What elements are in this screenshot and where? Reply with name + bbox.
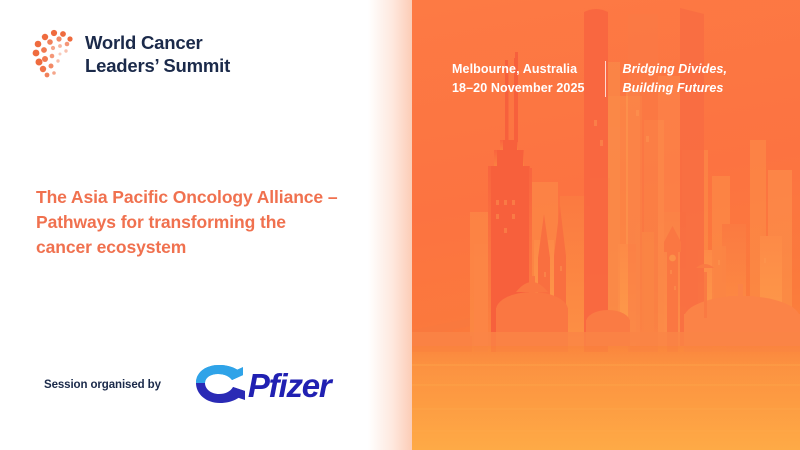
presentation-slide: Melbourne, Australia 18–20 November 2025… — [0, 0, 800, 450]
wcls-dot-spiral-icon — [30, 28, 76, 80]
wcls-logo: World Cancer Leaders’ Summit — [30, 28, 230, 80]
pfizer-logo: Pfizer — [188, 362, 331, 408]
session-title: The Asia Pacific Oncology Alliance – Pat… — [36, 185, 396, 260]
event-place-and-date: Melbourne, Australia 18–20 November 2025 — [452, 60, 585, 99]
header-divider — [605, 61, 606, 97]
wcls-wordmark: World Cancer Leaders’ Summit — [85, 31, 230, 78]
event-tagline: Bridging Divides, Building Futures — [623, 60, 728, 99]
event-header: Melbourne, Australia 18–20 November 2025… — [452, 60, 727, 99]
pfizer-wordmark: Pfizer — [248, 369, 331, 402]
organiser-row: Session organised by Pfizer — [44, 362, 331, 408]
pfizer-helix-icon — [188, 362, 246, 408]
organiser-label: Session organised by — [44, 379, 161, 391]
